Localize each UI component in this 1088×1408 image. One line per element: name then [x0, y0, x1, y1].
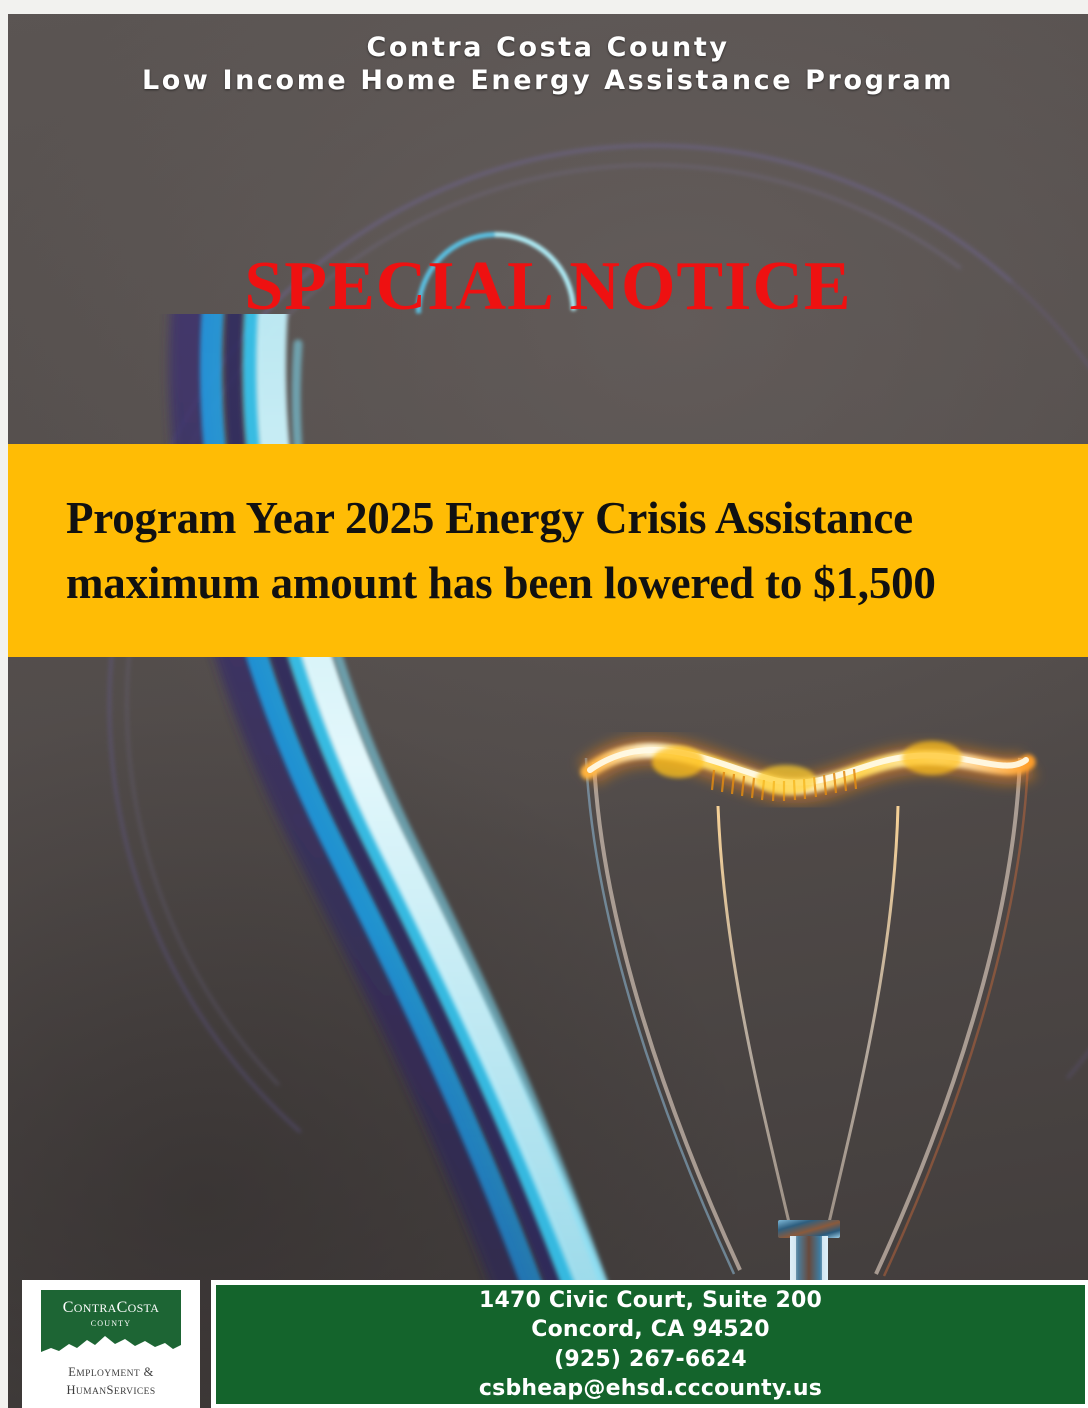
- dept-h: H: [66, 1383, 75, 1397]
- dept-mployment: MPLOYMENT: [76, 1369, 140, 1379]
- contact-phone[interactable]: (925) 267-6624: [554, 1345, 747, 1374]
- contact-address-line-2: Concord, CA 94520: [531, 1315, 769, 1344]
- department-line-1: EMPLOYMENT &: [28, 1364, 194, 1382]
- agency-logo-brand: CONTRACOSTA: [41, 1299, 181, 1317]
- agency-logo-green-panel: CONTRACOSTA COUNTY: [41, 1290, 181, 1360]
- logo-brand-osta: OSTA: [128, 1301, 160, 1315]
- department-line-2: HUMANSERVICES: [28, 1382, 194, 1400]
- contact-banner-frame: 1470 Civic Court, Suite 200 Concord, CA …: [211, 1280, 1088, 1408]
- dept-s: S: [107, 1383, 114, 1397]
- announcement-text: Program Year 2025 Energy Crisis Assistan…: [66, 486, 936, 616]
- flyer-page: Contra Costa County Low Income Home Ener…: [0, 0, 1088, 1408]
- background-photo: Contra Costa County Low Income Home Ener…: [8, 14, 1088, 1408]
- announcement-line-2: maximum amount has been lowered to $1,50…: [66, 551, 936, 616]
- logo-brand-c2: C: [117, 1299, 128, 1316]
- dept-ervices: ERVICES: [114, 1387, 156, 1397]
- contact-email[interactable]: csbheap@ehsd.cccounty.us: [479, 1374, 822, 1403]
- dept-amp: &: [140, 1365, 154, 1379]
- logo-brand-ontra: ONTRA: [74, 1301, 117, 1315]
- header-line-county: Contra Costa County: [8, 32, 1088, 65]
- announcement-banner: Program Year 2025 Energy Crisis Assistan…: [8, 444, 1088, 657]
- light-bulb-filament: [528, 714, 1088, 1294]
- dept-uman: UMAN: [76, 1387, 107, 1397]
- contact-address-line-1: 1470 Civic Court, Suite 200: [479, 1286, 822, 1315]
- special-notice-title: SPECIAL NOTICE: [8, 252, 1088, 322]
- page-header: Contra Costa County Low Income Home Ener…: [8, 32, 1088, 98]
- agency-logo: CONTRACOSTA COUNTY EMPLOYMENT & HUMANSER…: [22, 1280, 200, 1408]
- contact-banner: 1470 Civic Court, Suite 200 Concord, CA …: [216, 1285, 1085, 1404]
- agency-logo-inner: CONTRACOSTA COUNTY EMPLOYMENT & HUMANSER…: [28, 1286, 194, 1403]
- agency-logo-county: COUNTY: [41, 1319, 181, 1328]
- logo-brand-c1: C: [63, 1299, 74, 1316]
- announcement-line-1: Program Year 2025 Energy Crisis Assistan…: [66, 486, 936, 551]
- agency-logo-department: EMPLOYMENT & HUMANSERVICES: [28, 1364, 194, 1400]
- mountains-icon: [41, 1330, 181, 1360]
- header-line-program: Low Income Home Energy Assistance Progra…: [8, 65, 1088, 98]
